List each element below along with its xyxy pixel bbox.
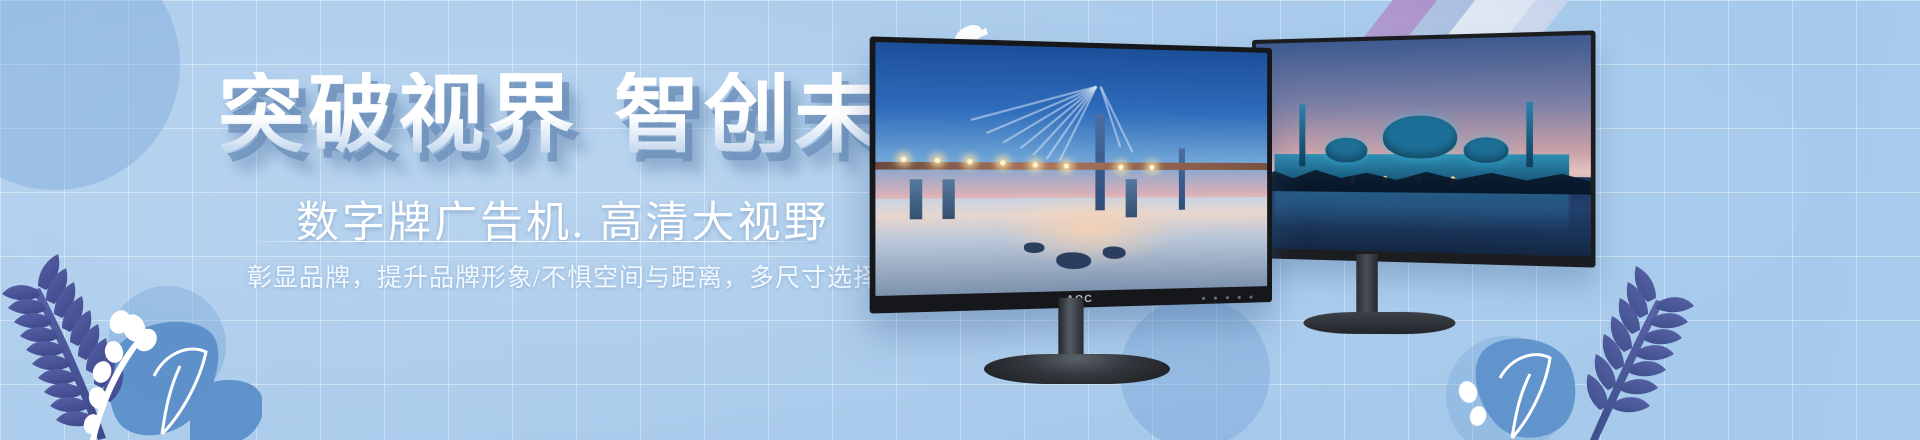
headline-line-1: 突破视界 (218, 67, 578, 163)
monitor-screen (875, 42, 1267, 296)
screen-rock (1024, 243, 1044, 253)
bridge-lamp (1032, 162, 1037, 167)
mosque-minaret (1300, 105, 1306, 167)
product-monitor-front[interactable]: AOC (892, 48, 1292, 348)
monitor-stand-base (1303, 312, 1455, 334)
monitor-panel: AOC (870, 36, 1272, 313)
fern-leaf-icon (0, 176, 262, 440)
bridge-lamp (901, 156, 907, 161)
bridge-pier (1126, 179, 1137, 218)
monitor-control-buttons[interactable] (1202, 296, 1252, 300)
bridge-pier (943, 179, 955, 219)
bridge-lamp (934, 158, 940, 163)
divider (240, 241, 830, 242)
monitor-stand-neck (1356, 254, 1377, 318)
mosque-dome (1464, 137, 1509, 163)
monitor-stand-base (984, 354, 1170, 384)
bridge-lamp (1064, 163, 1069, 168)
screen-rock (1056, 252, 1091, 270)
screen-rock (1103, 246, 1126, 258)
mosque-dome (1383, 116, 1457, 159)
page-title: 突破视界智创未来 (218, 72, 974, 158)
monitor-panel (1252, 30, 1596, 267)
mosque-minaret (1526, 102, 1533, 168)
bridge-pier (909, 179, 921, 219)
bridge-pylon (1179, 148, 1185, 210)
promo-banner: 突破视界智创未来 数字牌广告机. 高清大视野 彰显品牌，提升品牌形象/不惧空间与… (0, 0, 1920, 440)
bridge-lamp (1149, 165, 1154, 170)
mosque-dome (1325, 138, 1367, 163)
monitor-screen (1256, 35, 1591, 257)
bridge-deck (875, 161, 1267, 169)
tagline: 彰显品牌，提升品牌形象/不惧空间与距离，多尺寸选择 (247, 258, 879, 294)
bridge-lamp (1118, 164, 1123, 169)
